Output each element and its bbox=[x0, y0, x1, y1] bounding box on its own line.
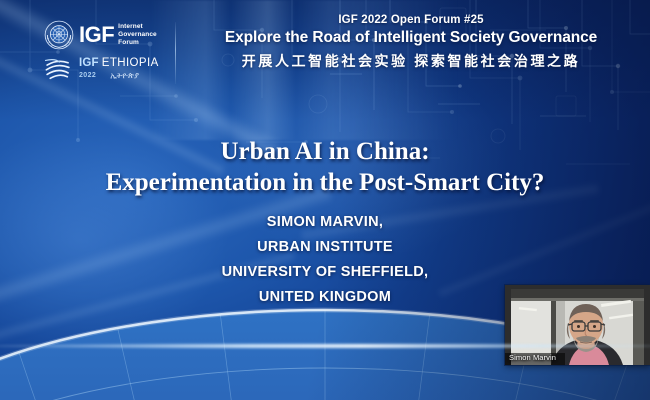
ethiopia-name-label: ETHIOPIA bbox=[102, 58, 159, 70]
header-title-group: IGF 2022 Open Forum #25 Explore the Road… bbox=[186, 14, 636, 71]
participant-name-label: Simon Marvin bbox=[509, 353, 556, 362]
forum-theme-chinese: 开展人工智能社会实验 探索智能社会治理之路 bbox=[186, 51, 636, 71]
presenter-name: SIMON MARVIN, bbox=[0, 210, 650, 235]
forum-session-label: IGF 2022 Open Forum #25 bbox=[186, 14, 636, 26]
forum-theme-english: Explore the Road of Intelligent Society … bbox=[186, 29, 636, 47]
presentation-title: Urban AI in China: Experimentation in th… bbox=[0, 136, 650, 199]
igf-subtitle-line-1: Internet bbox=[118, 23, 143, 30]
igf-wordmark: IGF bbox=[79, 24, 114, 46]
header-divider bbox=[175, 22, 176, 84]
ethiopia-igf-label: IGF bbox=[79, 58, 99, 70]
igf-ethiopia-logo: IGF ETHIOPIA 2022 ኢትዮጵያ bbox=[44, 57, 159, 81]
igf-ethiopia-swoosh-icon bbox=[44, 57, 72, 81]
ethiopia-year-label: 2022 bbox=[79, 72, 96, 79]
igf-logo: IGF Internet Governance Forum bbox=[44, 20, 159, 50]
logo-group: IGF Internet Governance Forum bbox=[44, 20, 159, 81]
igf-subtitle-line-2: Governance bbox=[118, 31, 157, 38]
presenter-institute: URBAN INSTITUTE bbox=[0, 235, 650, 260]
un-globe-laurel-icon bbox=[44, 20, 74, 50]
igf-subtitle: Internet Governance Forum bbox=[118, 23, 157, 47]
igf-ethiopia-text: IGF ETHIOPIA 2022 ኢትዮጵያ bbox=[79, 58, 159, 80]
slide-header: IGF Internet Governance Forum bbox=[0, 0, 650, 110]
igf-subtitle-line-3: Forum bbox=[118, 39, 139, 46]
ethiopia-amharic-label: ኢትዮጵያ bbox=[110, 72, 139, 80]
presenter-university: UNIVERSITY OF SHEFFIELD, bbox=[0, 260, 650, 285]
presentation-title-line-2: Experimentation in the Post-Smart City? bbox=[0, 167, 650, 198]
video-participant-tile[interactable]: Simon Marvin bbox=[505, 285, 650, 365]
presentation-title-line-1: Urban AI in China: bbox=[0, 136, 650, 167]
presentation-slide: IGF Internet Governance Forum bbox=[0, 0, 650, 400]
